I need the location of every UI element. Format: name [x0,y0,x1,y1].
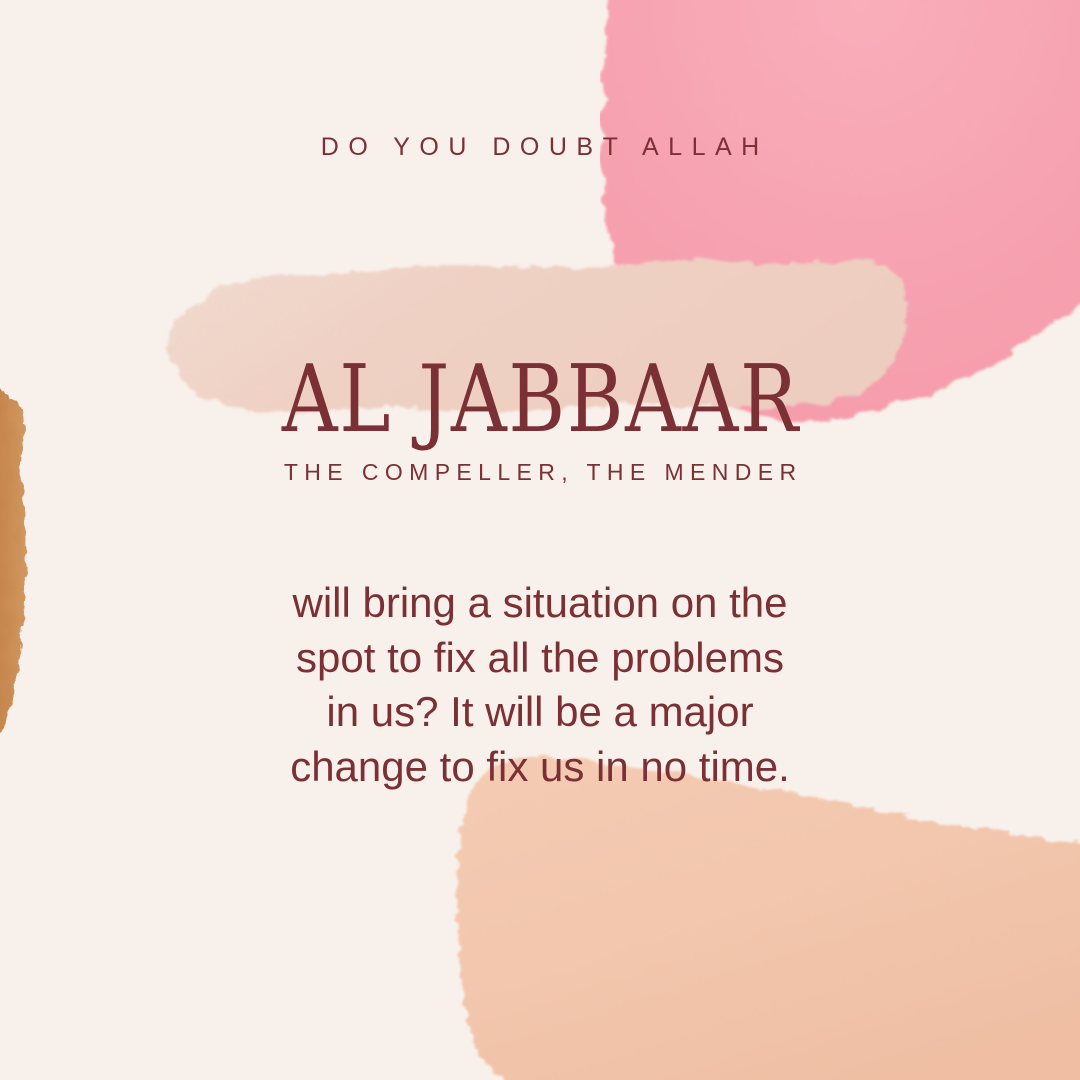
body-line: spot to fix all the problems [240,631,840,686]
body-line: in us? It will be a major [240,685,840,740]
body-copy: will bring a situation on the spot to fi… [240,576,840,794]
subtitle-translation: THE COMPELLER, THE MENDER [0,459,1080,486]
body-line: will bring a situation on the [240,576,840,631]
poster-canvas: DO YOU DOUBT ALLAH AL JABBAAR THE COMPEL… [0,0,1080,1080]
page-title: AL JABBAAR [92,351,988,448]
body-line: change to fix us in no time. [240,740,840,795]
poster-content: DO YOU DOUBT ALLAH AL JABBAAR THE COMPEL… [0,0,1080,1080]
eyebrow-heading: DO YOU DOUBT ALLAH [0,133,1080,162]
